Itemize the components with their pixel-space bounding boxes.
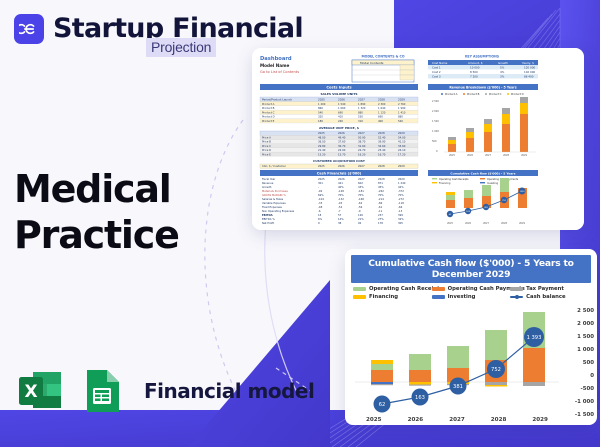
x-tick: 2027	[436, 417, 478, 423]
svg-text:-104: -104	[318, 197, 324, 201]
svg-text:2025: 2025	[318, 164, 325, 168]
svg-text:69%: 69%	[318, 193, 324, 197]
svg-text:102 000: 102 000	[524, 70, 535, 74]
svg-text:2027: 2027	[358, 97, 365, 101]
svg-text:2 000: 2 000	[432, 110, 439, 113]
svg-text:Model Name: Model Name	[260, 63, 289, 68]
svg-text:602: 602	[358, 181, 363, 185]
svg-text:Cost Name: Cost Name	[432, 61, 448, 65]
svg-text:Model Contents: Model Contents	[360, 61, 384, 65]
legend-swatch	[353, 295, 366, 299]
svg-text:690: 690	[338, 110, 343, 114]
svg-text:2026: 2026	[338, 131, 345, 135]
svg-text:Price B: Price B	[262, 140, 271, 144]
bar-segment	[371, 360, 393, 364]
svg-text:3%: 3%	[500, 74, 505, 78]
brand-subtitle: Projection	[146, 38, 216, 57]
svg-text:1 640: 1 640	[378, 106, 386, 110]
svg-text:-52: -52	[338, 205, 343, 209]
svg-text:Price A: Price A	[262, 136, 271, 140]
svg-text:2025: 2025	[318, 177, 325, 181]
spiral-e-icon	[14, 14, 44, 44]
svg-text:21%: 21%	[358, 217, 364, 221]
svg-text:-6: -6	[318, 209, 321, 213]
y-tick: 2 000	[577, 321, 594, 327]
y-tick: 1 000	[577, 347, 594, 353]
svg-text:50.90: 50.90	[358, 136, 366, 140]
page-title: Medical Practice	[14, 166, 179, 258]
svg-text:GROSS MARGIN %: GROSS MARGIN %	[262, 193, 286, 197]
y-tick: -1 500	[575, 412, 594, 418]
svg-text:17.20: 17.20	[398, 152, 406, 156]
data-label: 163	[415, 395, 425, 401]
svg-text:16.20: 16.20	[358, 152, 366, 156]
legend-swatch	[510, 287, 523, 291]
bar-segment	[485, 382, 507, 385]
svg-text:CAC, $ / Customer: CAC, $ / Customer	[262, 164, 287, 168]
y-tick: 2 500	[577, 308, 594, 314]
svg-text:AVERAGE UNIT PRICE, $: AVERAGE UNIT PRICE, $	[319, 126, 359, 130]
svg-text:-181: -181	[358, 189, 364, 193]
svg-text:-7: -7	[338, 209, 341, 213]
svg-text:52.40: 52.40	[378, 136, 386, 140]
svg-text:2028: 2028	[503, 154, 509, 157]
svg-text:-262: -262	[378, 189, 384, 193]
x-tick: 2029	[519, 417, 561, 423]
svg-text:237: 237	[378, 213, 383, 217]
svg-text:2029: 2029	[521, 154, 527, 157]
data-label: 381	[453, 384, 463, 390]
legend-label: Investing	[448, 294, 476, 300]
svg-text:2027: 2027	[358, 177, 365, 181]
svg-text:Financing: Financing	[439, 182, 451, 185]
x-tick: 2026	[395, 417, 437, 423]
svg-text:32%: 32%	[398, 217, 404, 221]
svg-text:29.80: 29.80	[318, 144, 326, 148]
svg-text:Revenue: Revenue	[262, 181, 274, 185]
svg-text:Fiscal Year: Fiscal Year	[262, 177, 276, 181]
svg-text:2025: 2025	[447, 222, 453, 225]
legend-swatch	[353, 287, 366, 291]
svg-text:Investing: Investing	[487, 182, 498, 185]
svg-text:42%: 42%	[398, 185, 404, 189]
svg-text:70%: 70%	[358, 193, 364, 197]
svg-text:Non Operating Expenses: Non Operating Expenses	[262, 209, 295, 213]
svg-text:-48: -48	[318, 205, 323, 209]
svg-text:1 540: 1 540	[338, 102, 346, 106]
svg-text:-118: -118	[398, 201, 404, 205]
svg-text:Yearly, $: Yearly, $	[522, 61, 534, 65]
svg-text:57: 57	[338, 213, 342, 217]
legend-item: Operating Cash Receipts	[353, 286, 432, 292]
svg-text:2025: 2025	[318, 97, 325, 101]
format-footer: X Financial model	[16, 366, 314, 416]
svg-text:2029: 2029	[398, 131, 405, 135]
svg-text:310: 310	[358, 119, 363, 123]
svg-text:Product D: Product D	[262, 115, 275, 119]
svg-text:36.50: 36.50	[318, 140, 326, 144]
svg-text:2029: 2029	[398, 97, 405, 101]
bar-segment	[485, 385, 507, 387]
bar-segment	[523, 382, 545, 386]
legend-item: Tax Payment	[510, 286, 589, 292]
svg-text:400: 400	[378, 119, 383, 123]
svg-text:240: 240	[338, 119, 343, 123]
svg-text:2027: 2027	[485, 154, 491, 157]
legend-label: Tax Payment	[526, 286, 564, 292]
svg-text:2025: 2025	[449, 154, 455, 157]
svg-text:320: 320	[318, 115, 323, 119]
legend-item: Cash balance	[510, 294, 589, 300]
svg-text:Product E: Product E	[262, 119, 275, 123]
svg-text:70%: 70%	[338, 193, 344, 197]
svg-text:8 500: 8 500	[470, 70, 478, 74]
financial-model-label: Financial model	[144, 379, 314, 403]
svg-text:4%: 4%	[500, 70, 505, 74]
svg-text:24.10: 24.10	[398, 148, 406, 152]
data-label: 1 393	[527, 335, 542, 341]
svg-text:301: 301	[318, 181, 323, 185]
svg-text:871: 871	[378, 181, 383, 185]
svg-text:Growth: Growth	[262, 185, 272, 189]
svg-text:38.70: 38.70	[358, 140, 366, 144]
svg-text:70%: 70%	[378, 193, 384, 197]
svg-text:92: 92	[358, 221, 362, 225]
svg-text:305: 305	[398, 221, 403, 225]
svg-text:10 000: 10 000	[470, 65, 480, 69]
bar-segment	[447, 346, 469, 368]
svg-text:2 760: 2 760	[398, 102, 406, 106]
svg-text:5%: 5%	[500, 65, 505, 69]
svg-text:Price D: Price D	[262, 148, 271, 152]
svg-text:1 200: 1 200	[318, 102, 326, 106]
svg-text:86 400: 86 400	[524, 74, 534, 78]
bar-segment	[409, 385, 431, 386]
x-tick: 2028	[478, 417, 520, 423]
svg-text:421: 421	[338, 181, 343, 185]
svg-text:-92: -92	[318, 189, 323, 193]
svg-text:Cost 3: Cost 3	[432, 74, 441, 78]
x-axis-labels: 2025 2026 2027 2028 2029	[353, 417, 561, 423]
svg-text:32.60: 32.60	[378, 144, 386, 148]
svg-text:48.00: 48.00	[318, 136, 326, 140]
svg-text:1 990: 1 990	[398, 106, 406, 110]
svg-text:-61: -61	[378, 205, 383, 209]
svg-text:Net Profit: Net Profit	[262, 221, 274, 225]
legend-item: Operating Cash Payments	[432, 286, 511, 292]
bar-segment	[485, 330, 507, 360]
y-tick: 500	[583, 360, 594, 366]
svg-text:Variable Expenses: Variable Expenses	[262, 201, 286, 205]
legend-swatch	[510, 296, 523, 298]
x-tick: 2025	[353, 417, 395, 423]
svg-text:Cash Financials ($'000): Cash Financials ($'000)	[317, 171, 362, 175]
svg-text:Product C: Product C	[489, 92, 502, 96]
svg-text:Cumulative Cash flow ($'000) -: Cumulative Cash flow ($'000) - 5 Years	[450, 171, 515, 175]
svg-text:22.70: 22.70	[358, 148, 366, 152]
svg-text:1 060: 1 060	[338, 106, 346, 110]
svg-text:2028: 2028	[378, 97, 385, 101]
legend-item: Financing	[353, 294, 432, 300]
svg-text:7 200: 7 200	[470, 74, 478, 78]
page-title-line-2: Practice	[14, 212, 179, 258]
bar-segment	[371, 384, 393, 385]
svg-text:23.40: 23.40	[378, 148, 386, 152]
svg-text:1 890: 1 890	[358, 102, 366, 106]
svg-text:Costs Inputs: Costs Inputs	[326, 85, 351, 89]
svg-text:Go to List of Contents: Go to List of Contents	[260, 70, 299, 74]
cumulative-cashflow-chart-card[interactable]: Cumulative Cash flow ($'000) - 5 Years t…	[345, 249, 597, 425]
svg-text:16.70: 16.70	[378, 152, 386, 156]
svg-text:-86: -86	[378, 201, 383, 205]
svg-text:500: 500	[432, 140, 437, 143]
svg-text:2026: 2026	[338, 177, 345, 181]
svg-text:860: 860	[318, 106, 323, 110]
bar-segment	[371, 382, 393, 384]
svg-text:6%: 6%	[318, 217, 323, 221]
svg-text:2027: 2027	[358, 131, 365, 135]
svg-text:1 320: 1 320	[358, 106, 366, 110]
svg-text:MODEL CONTENTS & CO: MODEL CONTENTS & CO	[361, 55, 404, 59]
svg-text:Salaries & Taxes: Salaries & Taxes	[262, 197, 284, 201]
svg-text:1 120: 1 120	[378, 110, 386, 114]
svg-text:Product A: Product A	[445, 92, 458, 96]
y-tick: -500	[581, 386, 595, 392]
y-axis-labels: 2 500 2 000 1 500 1 000 500 0 -500 -1 00…	[564, 304, 594, 416]
microsoft-excel-icon: X	[16, 366, 66, 416]
svg-text:15.70: 15.70	[338, 152, 346, 156]
svg-text:33.60: 33.60	[398, 144, 406, 148]
svg-text:-56: -56	[358, 205, 363, 209]
bar-segment	[409, 382, 431, 385]
data-label: 62	[379, 402, 386, 408]
svg-text:X: X	[24, 382, 37, 402]
svg-text:Growth: Growth	[498, 61, 508, 65]
svg-text:-: -	[318, 186, 319, 189]
svg-text:Product A: Product A	[262, 102, 275, 106]
svg-text:27%: 27%	[378, 217, 384, 221]
legend-item: Investing	[432, 294, 511, 300]
bar-segment	[409, 354, 431, 370]
svg-text:2029: 2029	[398, 164, 405, 168]
svg-text:1 240: 1 240	[398, 181, 406, 185]
svg-text:Cost 2: Cost 2	[432, 70, 441, 74]
y-tick: -1 000	[575, 399, 594, 405]
svg-text:2029: 2029	[398, 177, 405, 181]
svg-text:-45: -45	[338, 201, 343, 205]
svg-text:-372: -372	[398, 189, 404, 193]
bar-segment	[523, 348, 545, 382]
svg-text:410: 410	[338, 115, 343, 119]
svg-text:2026: 2026	[338, 97, 345, 101]
svg-text:178: 178	[378, 221, 383, 225]
legend-label: Financing	[369, 294, 398, 300]
svg-text:Price E: Price E	[262, 152, 271, 156]
svg-text:40%: 40%	[338, 185, 344, 189]
svg-text:2028: 2028	[378, 164, 385, 168]
svg-text:2028: 2028	[378, 131, 385, 135]
svg-text:2026: 2026	[467, 154, 473, 157]
bar-segment	[371, 364, 393, 370]
svg-text:15.20: 15.20	[318, 152, 326, 156]
svg-text:2029: 2029	[519, 222, 525, 225]
svg-text:22.00: 22.00	[338, 148, 346, 152]
svg-text:690: 690	[378, 115, 383, 119]
y-tick: 1 500	[577, 334, 594, 340]
legend-swatch	[432, 295, 445, 299]
svg-text:43%: 43%	[358, 185, 364, 189]
chart-svg: 62 163 381 752 1 393	[349, 304, 565, 424]
svg-text:-214: -214	[378, 197, 384, 201]
svg-text:39.90: 39.90	[378, 140, 386, 144]
svg-text:Period/Product Launch: Period/Product Launch	[262, 97, 292, 101]
svg-text:31.60: 31.60	[358, 144, 366, 148]
svg-text:540: 540	[318, 110, 323, 114]
svg-text:CUSTOMER ACQUISITION COST: CUSTOMER ACQUISITION COST	[313, 159, 366, 163]
bar-segment	[409, 370, 431, 382]
svg-text:KEY ASSUMPTIONS: KEY ASSUMPTIONS	[465, 55, 500, 59]
svg-text:70%: 70%	[398, 193, 404, 197]
svg-text:2026: 2026	[465, 222, 471, 225]
svg-text:54.00: 54.00	[398, 136, 406, 140]
svg-text:-11: -11	[378, 209, 383, 213]
svg-text:45%: 45%	[378, 185, 384, 189]
svg-text:1 500: 1 500	[432, 120, 439, 123]
svg-text:-272: -272	[398, 197, 404, 201]
chart-plot-area: 62 163 381 752 1 393 2 500 2 000 1 500 1…	[345, 304, 597, 424]
svg-text:EBITDA: EBITDA	[262, 213, 273, 217]
svg-text:2 500: 2 500	[432, 100, 439, 103]
svg-text:18: 18	[318, 213, 322, 217]
svg-text:-168: -168	[358, 197, 364, 201]
data-label: 752	[491, 367, 501, 373]
y-tick: 0	[590, 373, 594, 379]
svg-text:Product B: Product B	[262, 106, 275, 110]
svg-text:2028: 2028	[501, 222, 507, 225]
svg-text:Dashboard: Dashboard	[260, 56, 292, 62]
legend-label: Cash balance	[526, 294, 566, 300]
svg-text:-128: -128	[338, 189, 344, 193]
svg-text:49.40: 49.40	[338, 136, 346, 140]
page-title-line-1: Medical	[14, 166, 179, 212]
chart-legend: Operating Cash Receipts Operating Cash P…	[353, 286, 589, 302]
svg-text:Price C: Price C	[262, 144, 271, 148]
svg-text:530: 530	[358, 115, 363, 119]
svg-text:2027: 2027	[358, 164, 365, 168]
google-sheets-icon	[79, 366, 125, 416]
svg-text:Product B: Product B	[467, 92, 480, 96]
chart-title: Cumulative Cash flow ($'000) - 5 Years t…	[351, 255, 591, 283]
svg-text:Amount, $: Amount, $	[468, 61, 483, 65]
svg-text:38: 38	[338, 221, 342, 225]
svg-text:2025: 2025	[318, 131, 325, 135]
svg-text:180: 180	[318, 119, 323, 123]
svg-text:Operating Cash Receipts: Operating Cash Receipts	[439, 178, 469, 181]
svg-text:Materials Purchases: Materials Purchases	[262, 189, 288, 193]
svg-text:EBITDA %: EBITDA %	[262, 217, 275, 221]
dashboard-spreadsheet-thumbnail: Dashboard Model Name Go to List of Conte…	[252, 48, 584, 230]
svg-text:SALES VOLUME UNITS: SALES VOLUME UNITS	[320, 92, 357, 96]
brand-subtitle-wrap: Projection	[146, 38, 216, 57]
poster-canvas: Startup Financial Projection Medical Pra…	[0, 0, 600, 447]
svg-text:399: 399	[398, 213, 403, 217]
svg-text:Product D: Product D	[511, 92, 524, 96]
svg-text:Product C: Product C	[262, 110, 275, 114]
svg-text:14%: 14%	[338, 217, 344, 221]
svg-text:-9: -9	[358, 209, 361, 213]
svg-text:-132: -132	[338, 197, 344, 201]
dashboard-preview-card[interactable]: Dashboard Model Name Go to List of Conte…	[252, 48, 584, 230]
svg-text:-62: -62	[358, 201, 363, 205]
svg-text:41.10: 41.10	[398, 140, 406, 144]
svg-text:21.40: 21.40	[318, 148, 326, 152]
svg-text:-66: -66	[398, 205, 403, 209]
svg-text:37.60: 37.60	[338, 140, 346, 144]
svg-text:1 410: 1 410	[398, 110, 406, 114]
bar-segment	[371, 370, 393, 382]
svg-text:30.70: 30.70	[338, 144, 346, 148]
svg-text:2026: 2026	[338, 164, 345, 168]
svg-text:-13: -13	[398, 209, 403, 213]
svg-text:Cost 1: Cost 1	[432, 65, 441, 69]
svg-text:880: 880	[358, 110, 363, 114]
svg-text:1 000: 1 000	[432, 130, 439, 133]
svg-text:1393: 1393	[519, 191, 525, 193]
svg-text:2027: 2027	[483, 222, 489, 225]
svg-text:-33: -33	[318, 201, 323, 205]
svg-text:Fixed Expenses: Fixed Expenses	[262, 205, 283, 209]
svg-text:126: 126	[358, 213, 363, 217]
svg-text:880: 880	[398, 115, 403, 119]
svg-text:520: 520	[398, 119, 403, 123]
svg-text:2 300: 2 300	[378, 102, 386, 106]
legend-swatch	[432, 287, 445, 291]
svg-text:Revenue Breakdown ($'000) - 5: Revenue Breakdown ($'000) - 5 Years	[449, 85, 516, 89]
svg-text:2028: 2028	[378, 177, 385, 181]
svg-text:120 000: 120 000	[524, 65, 535, 69]
